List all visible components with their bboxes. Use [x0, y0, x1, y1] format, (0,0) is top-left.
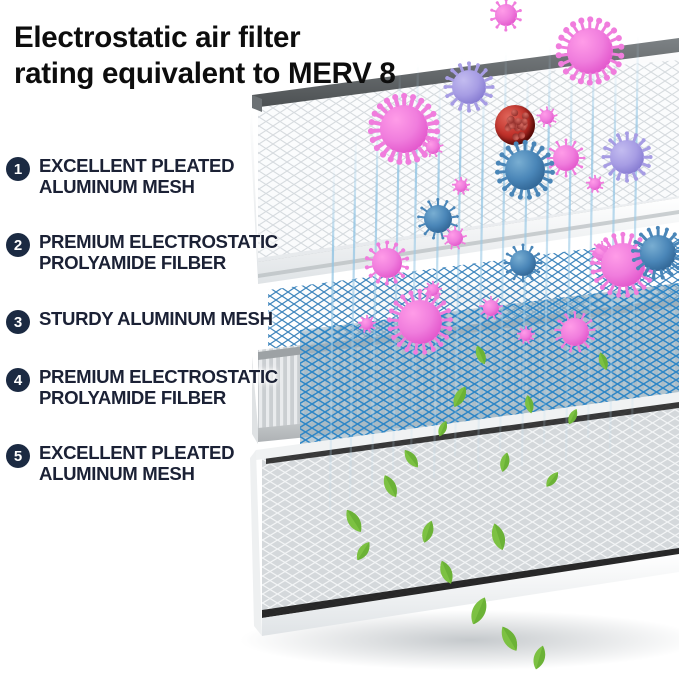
virus-spike-knob [521, 279, 524, 282]
virus-spike-knob [467, 108, 471, 112]
virus-spike [432, 138, 434, 141]
virus-body [510, 250, 536, 276]
legend-label-5: EXCELLENT PLEATED ALUMINUM MESH [39, 443, 234, 485]
virus-spike-knob [434, 128, 440, 134]
virus-spike-knob [365, 256, 369, 260]
virus-particle [495, 105, 535, 145]
virus-spike [675, 249, 679, 252]
legend-number-badge-3: 3 [6, 310, 30, 334]
legend-item-4[interactable]: 4 PREMIUM ELECTROSTATIC PROLYAMIDE FILBE… [6, 367, 278, 409]
virus-particle [398, 300, 442, 344]
virus-spike-knob [495, 170, 500, 175]
legend-label-3: STURDY ALUMINUM MESH [39, 309, 273, 330]
virus-spike-knob [385, 282, 389, 286]
virus-particle [510, 250, 536, 276]
legend-number-badge-5: 5 [6, 444, 30, 468]
virus-spike-knob [618, 43, 624, 49]
virus-particle [455, 180, 467, 192]
virus-spike [546, 108, 548, 111]
legend-item-5[interactable]: 5 EXCELLENT PLEATED ALUMINUM MESH [6, 443, 234, 485]
legend-item-1[interactable]: 1 EXCELLENT PLEATED ALUMINUM MESH [6, 156, 234, 198]
legend-number-badge-1: 1 [6, 157, 30, 181]
virus-particle [520, 329, 532, 341]
legend-label-2: PREMIUM ELECTROSTATIC PROLYAMIDE FILBER [39, 232, 278, 274]
legend-item-2[interactable]: 2 PREMIUM ELECTROSTATIC PROLYAMIDE FILBE… [6, 232, 278, 274]
virus-spike [490, 298, 492, 301]
virus-particle [505, 150, 545, 190]
virus-spike-knob [368, 128, 374, 134]
virus-spike-knob [523, 140, 528, 145]
virus-particle [495, 4, 517, 26]
virus-particle [610, 140, 644, 174]
page-title: Electrostatic air filter rating equivale… [14, 20, 484, 92]
virus-particle [447, 230, 463, 246]
virus-particle [553, 145, 579, 171]
virus-particle [380, 105, 428, 153]
virus-spike-knob [555, 52, 561, 58]
infographic-canvas: Electrostatic air filter rating equivale… [0, 0, 679, 675]
virus-particle [372, 248, 402, 278]
virus-particle [567, 28, 613, 74]
virus-particle [426, 140, 440, 154]
virus-spike-knob [385, 240, 389, 244]
virus-spike-knob [555, 43, 561, 49]
virus-spike-knob [505, 0, 508, 1]
virus-spike-knob [405, 256, 409, 260]
virus-particle [561, 318, 589, 346]
virus-spike-knob [618, 52, 624, 58]
virus-body [553, 145, 579, 171]
virus-spike-knob [505, 29, 508, 32]
virus-spike [437, 200, 439, 206]
virus-particle [540, 110, 554, 124]
virus-particle [589, 178, 601, 190]
legend-label-1: EXCELLENT PLEATED ALUMINUM MESH [39, 156, 234, 198]
virus-spike-knob [550, 170, 555, 175]
virus-spike-knob [401, 93, 407, 99]
legend-number-badge-2: 2 [6, 233, 30, 257]
virus-spike-knob [564, 174, 567, 177]
legend-number-badge-4: 4 [6, 368, 30, 392]
legend-label-4: PREMIUM ELECTROSTATIC PROLYAMIDE FILBER [39, 367, 278, 409]
virus-particle [640, 235, 676, 271]
virus-spike-knob [587, 16, 593, 22]
virus-particle [483, 300, 499, 316]
virus-spike-knob [587, 80, 593, 86]
virus-spike [574, 313, 576, 319]
virus-spike-knob [625, 178, 629, 182]
legend-item-3[interactable]: 3 STURDY ALUMINUM MESH [6, 309, 273, 334]
virus-particle [361, 318, 373, 330]
virus-spike [454, 228, 456, 231]
